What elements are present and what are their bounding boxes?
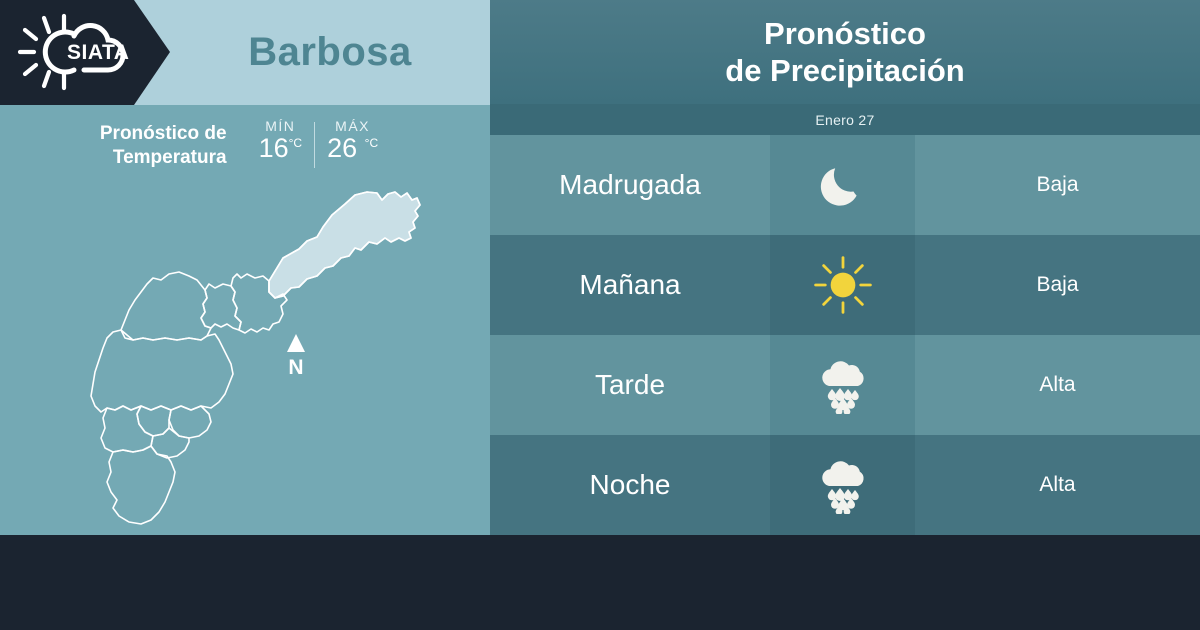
siata-logo[interactable]: SIATA bbox=[0, 0, 170, 105]
forecast-icon-cell bbox=[770, 335, 915, 435]
compass-label: N bbox=[288, 356, 303, 379]
forecast-probability-label: Baja bbox=[1036, 173, 1078, 197]
temperature-divider bbox=[314, 122, 315, 168]
precipitation-header: Pronóstico de Precipitación bbox=[490, 0, 1200, 104]
forecast-period-label: Tarde bbox=[595, 369, 665, 401]
forecast-period-label: Madrugada bbox=[559, 169, 701, 201]
sun-cloud-icon: SIATA bbox=[12, 12, 138, 92]
rain-cloud-icon bbox=[814, 456, 872, 514]
temperature-min-value: 16°C bbox=[259, 135, 303, 162]
forecast-period-cell: Noche bbox=[490, 435, 770, 535]
forecast-date: Enero 27 bbox=[815, 112, 874, 128]
forecast-probability-label: Alta bbox=[1039, 473, 1075, 497]
temperature-title: Pronóstico de Temperatura bbox=[100, 118, 227, 169]
forecast-row: MañanaBaja bbox=[490, 235, 1200, 335]
forecast-row: NocheAlta bbox=[490, 435, 1200, 535]
forecast-probability-label: Baja bbox=[1036, 273, 1078, 297]
temperature-max-label: MÁX bbox=[327, 118, 378, 134]
sun-icon bbox=[814, 256, 872, 314]
city-name: Barbosa bbox=[170, 0, 490, 105]
precipitation-title: Pronóstico de Precipitación bbox=[725, 15, 964, 89]
left-panel: SIATA Barbosa Pronóstico de Temperatura … bbox=[0, 0, 490, 535]
footer: @siatamedellin www.siata.gov.co Con el a… bbox=[0, 535, 1200, 630]
temperature-values: MÍN 16°C MÁX 26 °C bbox=[247, 118, 391, 168]
temperature-max-unit: °C bbox=[365, 136, 378, 150]
forecast-probability-cell: Alta bbox=[915, 335, 1200, 435]
forecast-period-cell: Madrugada bbox=[490, 135, 770, 235]
forecast-icon-cell bbox=[770, 135, 915, 235]
forecast-probability-cell: Alta bbox=[915, 435, 1200, 535]
right-panel: Pronóstico de Precipitación Enero 27 Mad… bbox=[490, 0, 1200, 535]
compass-icon: N bbox=[287, 334, 305, 379]
temperature-title-line1: Pronóstico de bbox=[100, 123, 227, 144]
forecast-probability-cell: Baja bbox=[915, 235, 1200, 335]
temperature-max-value: 26 °C bbox=[327, 135, 378, 162]
forecast-row: MadrugadaBaja bbox=[490, 135, 1200, 235]
temperature-min-label: MÍN bbox=[259, 118, 303, 134]
precipitation-title-line1: Pronóstico bbox=[764, 16, 926, 51]
temperature-title-line2: Temperatura bbox=[113, 147, 227, 168]
forecast-row: TardeAlta bbox=[490, 335, 1200, 435]
forecast-icon-cell bbox=[770, 235, 915, 335]
forecast-probability-cell: Baja bbox=[915, 135, 1200, 235]
svg-text:SIATA: SIATA bbox=[67, 41, 129, 64]
aburra-valley-map[interactable]: N bbox=[55, 180, 455, 530]
rain-cloud-icon bbox=[814, 356, 872, 414]
precipitation-title-line2: de Precipitación bbox=[725, 53, 964, 88]
temperature-min: MÍN 16°C bbox=[247, 118, 315, 162]
forecast-probability-label: Alta bbox=[1039, 373, 1075, 397]
forecast-icon-cell bbox=[770, 435, 915, 535]
forecast-rows: MadrugadaBajaMañanaBajaTardeAltaNocheAlt… bbox=[490, 135, 1200, 535]
temperature-max: MÁX 26 °C bbox=[315, 118, 390, 162]
forecast-period-label: Mañana bbox=[579, 269, 680, 301]
map-region-barbosa[interactable] bbox=[269, 192, 420, 298]
forecast-period-cell: Tarde bbox=[490, 335, 770, 435]
infographic-root: SIATA Barbosa Pronóstico de Temperatura … bbox=[0, 0, 1200, 630]
moon-icon bbox=[816, 158, 870, 212]
forecast-period-cell: Mañana bbox=[490, 235, 770, 335]
forecast-date-band: Enero 27 bbox=[490, 104, 1200, 135]
forecast-period-label: Noche bbox=[590, 469, 671, 501]
temperature-min-unit: °C bbox=[289, 136, 302, 150]
map-svg: N bbox=[55, 180, 455, 530]
